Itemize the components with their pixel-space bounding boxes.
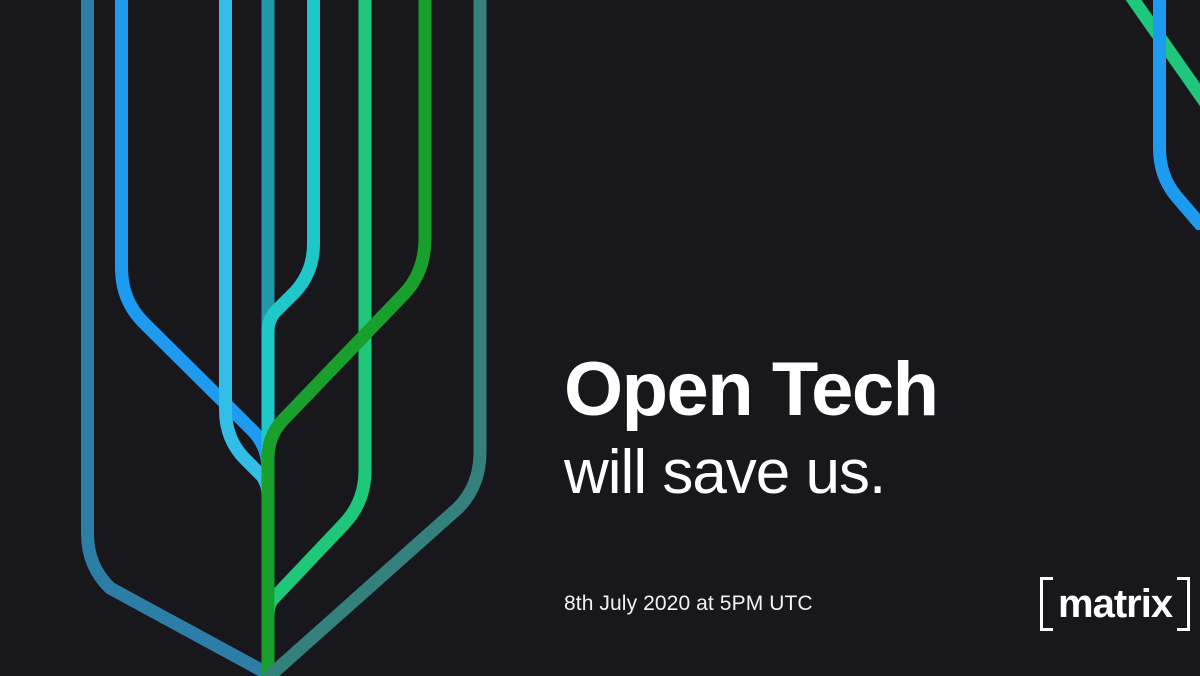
matrix-wordmark: matrix xyxy=(1053,584,1177,624)
promo-card: Open Tech will save us. 8th July 2020 at… xyxy=(0,0,1200,676)
headline-secondary: will save us. xyxy=(564,442,1164,504)
corner-line-blue xyxy=(1160,0,1200,230)
headline-primary: Open Tech xyxy=(564,352,1164,428)
matrix-logo: matrix xyxy=(1040,575,1190,633)
event-date-text: 8th July 2020 at 5PM UTC xyxy=(564,592,813,616)
branching-lines-graphic xyxy=(0,0,1200,676)
headline-block: Open Tech will save us. xyxy=(564,352,1164,504)
bracket-right-icon xyxy=(1177,577,1190,631)
corner-lines-graphic xyxy=(1080,0,1200,230)
line-bright-blue xyxy=(122,0,269,676)
bracket-left-icon xyxy=(1040,577,1053,631)
